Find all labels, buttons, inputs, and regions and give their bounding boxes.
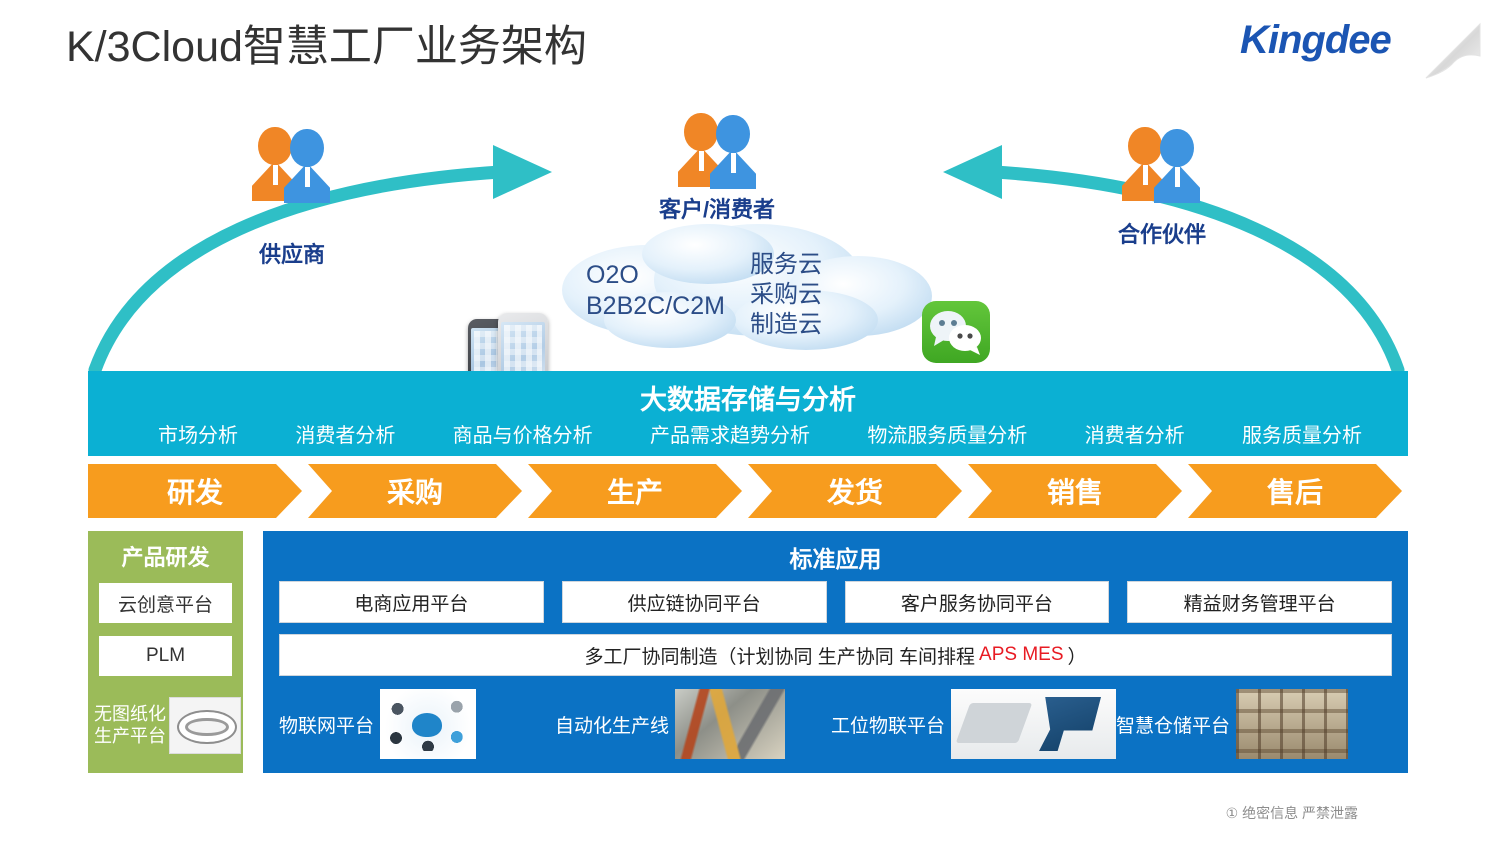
- cad-drawing-thumbnail: [169, 697, 241, 754]
- bigdata-items: 市场分析 消费者分析 商品与价格分析 产品需求趋势分析 物流服务质量分析 消费者…: [158, 419, 1362, 448]
- rnd-panel: 产品研发 云创意平台 PLM 无图纸化 生产平台: [88, 531, 243, 773]
- process-stage-aftersales[interactable]: 售后: [1188, 464, 1402, 518]
- process-stage-shipping[interactable]: 发货: [748, 464, 962, 518]
- platform-card-ecommerce[interactable]: 电商应用平台: [279, 581, 544, 623]
- bottom-item-workstation[interactable]: 工位物联平台: [831, 689, 1116, 759]
- process-stage-label: 研发: [167, 471, 223, 511]
- process-stage-rnd[interactable]: 研发: [88, 464, 302, 518]
- partner-arrow-head: [943, 145, 1002, 199]
- bottom-item-iot[interactable]: 物联网平台: [279, 689, 555, 759]
- kingdee-logo-text: Kingdee: [1240, 18, 1391, 63]
- process-stage-sales[interactable]: 销售: [968, 464, 1182, 518]
- ecosystem-area: 供应商 客户/消费者 合作伙伴 O2O B2B2C/C2M 服务云 采购云 制造…: [0, 95, 1500, 380]
- platform-card-lean-finance[interactable]: 精益财务管理平台: [1127, 581, 1392, 623]
- standard-apps-panel: 标准应用 电商应用平台 供应链协同平台 客户服务协同平台 精益财务管理平台 多工…: [263, 531, 1408, 773]
- bottom-item-label: 智慧仓储平台: [1116, 711, 1230, 738]
- rnd-paperless-label: 无图纸化 生产平台: [94, 703, 166, 748]
- rnd-paperless-item[interactable]: 无图纸化 生产平台: [94, 689, 239, 761]
- page-title: K/3Cloud智慧工厂业务架构: [66, 12, 587, 74]
- platform-card-customer-service[interactable]: 客户服务协同平台: [845, 581, 1110, 623]
- platform-card-label: 供应链协同平台: [628, 589, 761, 616]
- process-chevron-row: 研发 采购 生产 发货 销售 售后: [88, 464, 1408, 518]
- manufacturing-bar-prefix: 多工厂协同制造（计划协同 生产协同 车间排程: [584, 642, 975, 669]
- slide-root: K/3Cloud智慧工厂业务架构 Kingdee: [0, 0, 1500, 843]
- rnd-card-label: PLM: [146, 645, 185, 667]
- bigdata-item: 市场分析: [158, 419, 238, 448]
- rnd-panel-title: 产品研发: [88, 540, 243, 572]
- lower-section: 产品研发 云创意平台 PLM 无图纸化 生产平台 标准应用: [88, 531, 1408, 773]
- iot-network-thumbnail: [380, 689, 476, 759]
- platform-card-label: 电商应用平台: [354, 589, 468, 616]
- customer-people-icon: [678, 113, 756, 195]
- rnd-paperless-line1: 无图纸化: [94, 703, 166, 726]
- process-stage-procurement[interactable]: 采购: [308, 464, 522, 518]
- bottom-item-label: 物联网平台: [279, 711, 374, 738]
- process-stage-label: 生产: [607, 471, 663, 511]
- bigdata-item: 服务质量分析: [1242, 419, 1362, 448]
- platform-card-label: 客户服务协同平台: [901, 589, 1053, 616]
- partner-label: 合作伙伴: [1082, 217, 1242, 249]
- wechat-icon: [922, 301, 990, 363]
- bigdata-item: 消费者分析: [295, 419, 395, 448]
- bottom-item-label: 工位物联平台: [831, 711, 945, 738]
- page-curl-icon: [1424, 22, 1482, 80]
- standard-apps-bottom-row: 物联网平台 自动化生产线 工位物联平台 智慧仓储平台: [279, 687, 1392, 761]
- bottom-item-label: 自动化生产线: [555, 711, 669, 738]
- process-stage-label: 发货: [827, 471, 883, 511]
- cloud-right-text: 服务云 采购云 制造云: [750, 250, 822, 340]
- cloud-service-line: 服务云: [750, 250, 822, 280]
- rnd-card-label: 云创意平台: [118, 590, 213, 617]
- manufacturing-bar-highlight: APS MES: [979, 644, 1063, 666]
- bigdata-title: 大数据存储与分析: [88, 378, 1408, 417]
- bigdata-item: 商品与价格分析: [453, 419, 593, 448]
- customer-label: 客户/消费者: [632, 192, 802, 224]
- rnd-card-cloud-creative[interactable]: 云创意平台: [99, 583, 232, 623]
- supplier-arrow-head: [493, 145, 552, 199]
- kingdee-logo: Kingdee: [1232, 8, 1482, 80]
- bottom-item-automation[interactable]: 自动化生产线: [555, 689, 831, 759]
- partner-people-icon: [1122, 127, 1200, 209]
- supplier-people-icon: [252, 127, 330, 209]
- platform-card-label: 精益财务管理平台: [1184, 589, 1336, 616]
- supplier-label: 供应商: [212, 237, 372, 269]
- bigdata-item: 消费者分析: [1085, 419, 1185, 448]
- confidential-footer: ① 绝密信息 严禁泄露: [1226, 803, 1358, 823]
- platform-card-supplychain[interactable]: 供应链协同平台: [562, 581, 827, 623]
- rnd-paperless-line2: 生产平台: [94, 725, 166, 748]
- bigdata-band: 大数据存储与分析 市场分析 消费者分析 商品与价格分析 产品需求趋势分析 物流服…: [88, 371, 1408, 456]
- cloud-b2b2c-line: B2B2C/C2M: [586, 291, 725, 322]
- process-stage-production[interactable]: 生产: [528, 464, 742, 518]
- cloud-left-text: O2O B2B2C/C2M: [586, 260, 725, 323]
- cloud-o2o-line: O2O: [586, 260, 725, 291]
- bottom-item-warehouse[interactable]: 智慧仓储平台: [1116, 689, 1392, 759]
- standard-apps-platform-row: 电商应用平台 供应链协同平台 客户服务协同平台 精益财务管理平台: [279, 581, 1392, 623]
- bigdata-item: 产品需求趋势分析: [650, 419, 810, 448]
- manufacturing-bar-suffix: ）: [1068, 642, 1087, 669]
- cloud-procurement-line: 采购云: [750, 280, 822, 310]
- multi-factory-manufacturing-bar[interactable]: 多工厂协同制造（计划协同 生产协同 车间排程 APS MES ）: [279, 634, 1392, 676]
- process-stage-label: 售后: [1267, 471, 1323, 511]
- workstation-iot-thumbnail: [951, 689, 1116, 759]
- standard-apps-title: 标准应用: [263, 540, 1408, 574]
- cloud-manufacturing-line: 制造云: [750, 310, 822, 340]
- cloud-labels: O2O B2B2C/C2M 服务云 采购云 制造云: [558, 228, 928, 348]
- process-stage-label: 销售: [1047, 471, 1103, 511]
- bigdata-item: 物流服务质量分析: [867, 419, 1027, 448]
- smart-warehouse-thumbnail: [1236, 689, 1348, 759]
- process-stage-label: 采购: [387, 471, 443, 511]
- rnd-card-plm[interactable]: PLM: [99, 636, 232, 676]
- automation-line-thumbnail: [675, 689, 785, 759]
